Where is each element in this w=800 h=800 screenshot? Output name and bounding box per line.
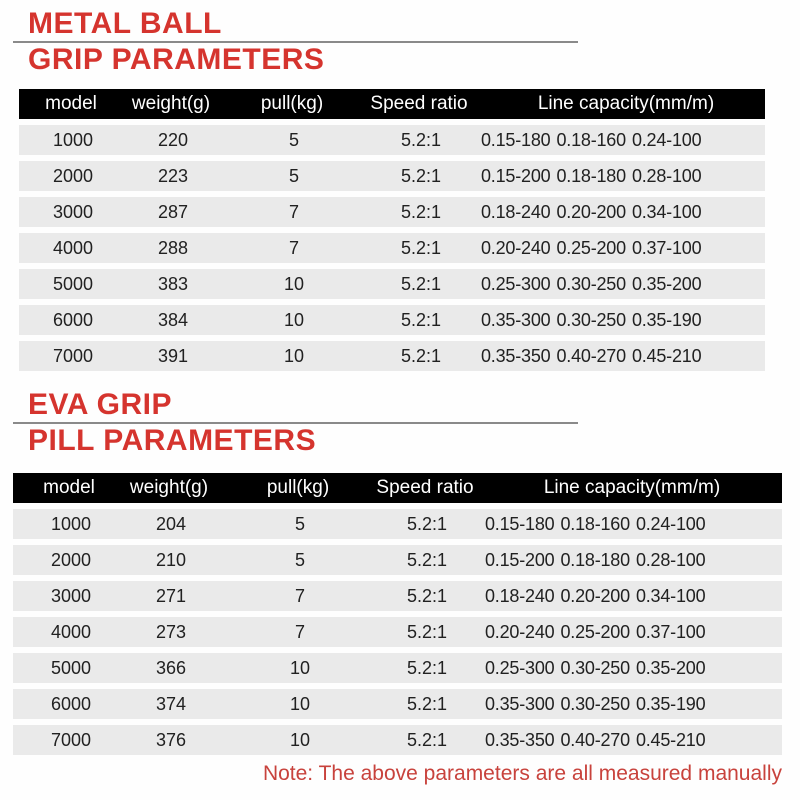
cell-weight: 220 (113, 125, 233, 155)
capacity-value: 0.35-190 (636, 689, 705, 719)
cell-pull: 7 (237, 197, 351, 227)
cell-pull: 7 (237, 233, 351, 263)
cell-model: 1000 (27, 125, 119, 155)
heading-line-1: METAL BALL (28, 6, 324, 42)
capacity-value: 0.34-100 (632, 197, 701, 227)
cell-model: 6000 (25, 689, 117, 719)
capacity-value: 0.15-180 (485, 509, 554, 539)
table-metal-ball-grip: model weight(g) pull(kg) Speed ratio Lin… (19, 89, 765, 371)
cell-pull: 10 (243, 689, 357, 719)
cell-weight: 204 (111, 509, 231, 539)
cell-speed-ratio: 5.2:1 (351, 197, 491, 227)
cell-weight: 384 (113, 305, 233, 335)
capacity-value: 0.20-200 (560, 581, 629, 611)
cell-weight: 273 (111, 617, 231, 647)
heading-line-2: PILL PARAMETERS (28, 423, 316, 459)
capacity-value: 0.35-300 (481, 305, 550, 335)
cell-capacity: 0.20-2400.25-2000.37-100 (485, 617, 773, 647)
capacity-value: 0.30-250 (560, 653, 629, 683)
cell-capacity: 0.15-1800.18-1600.24-100 (485, 509, 773, 539)
capacity-value: 0.35-200 (632, 269, 701, 299)
cell-weight: 223 (113, 161, 233, 191)
capacity-value: 0.18-180 (560, 545, 629, 575)
cell-speed-ratio: 5.2:1 (351, 161, 491, 191)
capacity-value: 0.40-270 (560, 725, 629, 755)
table-row: 200022355.2:10.15-2000.18-1800.28-100 (19, 161, 765, 191)
cell-pull: 10 (243, 725, 357, 755)
capacity-value: 0.15-180 (481, 125, 550, 155)
table-row: 5000366105.2:10.25-3000.30-2500.35-200 (13, 653, 782, 683)
cell-capacity: 0.35-3000.30-2500.35-190 (481, 305, 765, 335)
capacity-value: 0.24-100 (636, 509, 705, 539)
capacity-value: 0.40-270 (556, 341, 625, 371)
cell-capacity: 0.25-3000.30-2500.35-200 (485, 653, 773, 683)
table-body: 100022055.2:10.15-1800.18-1600.24-100200… (19, 125, 765, 371)
cell-pull: 5 (237, 125, 351, 155)
heading-eva-grip-pill: EVA GRIP PILL PARAMETERS (0, 387, 316, 459)
capacity-value: 0.37-100 (632, 233, 701, 263)
cell-model: 7000 (27, 341, 119, 371)
cell-model: 5000 (27, 269, 119, 299)
cell-capacity: 0.20-2400.25-2000.37-100 (481, 233, 765, 263)
cell-pull: 5 (243, 545, 357, 575)
table-header-row: model weight(g) pull(kg) Speed ratio Lin… (19, 89, 765, 119)
capacity-value: 0.25-300 (485, 653, 554, 683)
capacity-value: 0.35-300 (485, 689, 554, 719)
cell-pull: 10 (243, 653, 357, 683)
cell-model: 1000 (25, 509, 117, 539)
column-header-line-capacity: Line capacity(mm/m) (491, 473, 773, 503)
capacity-value: 0.20-200 (556, 197, 625, 227)
cell-speed-ratio: 5.2:1 (357, 653, 497, 683)
cell-capacity: 0.35-3000.30-2500.35-190 (485, 689, 773, 719)
column-header-weight: weight(g) (111, 89, 231, 119)
table-row: 100020455.2:10.15-1800.18-1600.24-100 (13, 509, 782, 539)
cell-speed-ratio: 5.2:1 (351, 269, 491, 299)
capacity-value: 0.37-100 (636, 617, 705, 647)
capacity-value: 0.35-350 (485, 725, 554, 755)
capacity-value: 0.20-240 (485, 617, 554, 647)
capacity-value: 0.24-100 (632, 125, 701, 155)
table-header-row: model weight(g) pull(kg) Speed ratio Lin… (13, 473, 782, 503)
cell-speed-ratio: 5.2:1 (357, 509, 497, 539)
cell-model: 4000 (27, 233, 119, 263)
cell-capacity: 0.18-2400.20-2000.34-100 (485, 581, 773, 611)
capacity-value: 0.18-160 (560, 509, 629, 539)
capacity-value: 0.35-350 (481, 341, 550, 371)
cell-model: 2000 (27, 161, 119, 191)
parameters-spec-sheet: METAL BALL GRIP PARAMETERS model weight(… (0, 0, 800, 800)
capacity-value: 0.45-210 (636, 725, 705, 755)
table-row: 6000384105.2:10.35-3000.30-2500.35-190 (19, 305, 765, 335)
cell-pull: 5 (243, 509, 357, 539)
capacity-value: 0.20-240 (481, 233, 550, 263)
column-header-speed-ratio: Speed ratio (349, 89, 489, 119)
cell-capacity: 0.15-1800.18-1600.24-100 (481, 125, 765, 155)
cell-speed-ratio: 5.2:1 (351, 125, 491, 155)
table-row: 200021055.2:10.15-2000.18-1800.28-100 (13, 545, 782, 575)
cell-weight: 271 (111, 581, 231, 611)
capacity-value: 0.30-250 (556, 305, 625, 335)
cell-speed-ratio: 5.2:1 (357, 725, 497, 755)
capacity-value: 0.28-100 (632, 161, 701, 191)
cell-capacity: 0.25-3000.30-2500.35-200 (481, 269, 765, 299)
table-row: 100022055.2:10.15-1800.18-1600.24-100 (19, 125, 765, 155)
table-row: 6000374105.2:10.35-3000.30-2500.35-190 (13, 689, 782, 719)
cell-pull: 10 (237, 341, 351, 371)
table-row: 7000376105.2:10.35-3500.40-2700.45-210 (13, 725, 782, 755)
heading-line-2: GRIP PARAMETERS (28, 42, 324, 78)
column-header-line-capacity: Line capacity(mm/m) (487, 89, 765, 119)
cell-model: 7000 (25, 725, 117, 755)
cell-weight: 288 (113, 233, 233, 263)
measurement-note: Note: The above parameters are all measu… (263, 762, 782, 786)
column-header-speed-ratio: Speed ratio (355, 473, 495, 503)
capacity-value: 0.34-100 (636, 581, 705, 611)
cell-model: 3000 (25, 581, 117, 611)
cell-weight: 383 (113, 269, 233, 299)
column-header-pull: pull(kg) (235, 89, 349, 119)
table-row: 7000391105.2:10.35-3500.40-2700.45-210 (19, 341, 765, 371)
table-eva-grip-pill: model weight(g) pull(kg) Speed ratio Lin… (13, 473, 782, 755)
column-header-weight: weight(g) (109, 473, 229, 503)
capacity-value: 0.35-200 (636, 653, 705, 683)
capacity-value: 0.18-160 (556, 125, 625, 155)
capacity-value: 0.28-100 (636, 545, 705, 575)
cell-speed-ratio: 5.2:1 (357, 617, 497, 647)
cell-pull: 7 (243, 581, 357, 611)
cell-model: 6000 (27, 305, 119, 335)
capacity-value: 0.45-210 (632, 341, 701, 371)
table-body: 100020455.2:10.15-1800.18-1600.24-100200… (13, 509, 782, 755)
capacity-value: 0.25-200 (556, 233, 625, 263)
cell-speed-ratio: 5.2:1 (351, 341, 491, 371)
capacity-value: 0.30-250 (556, 269, 625, 299)
table-row: 400028875.2:10.20-2400.25-2000.37-100 (19, 233, 765, 263)
cell-speed-ratio: 5.2:1 (357, 689, 497, 719)
capacity-value: 0.25-200 (560, 617, 629, 647)
cell-speed-ratio: 5.2:1 (357, 581, 497, 611)
heading-line-1: EVA GRIP (28, 387, 316, 423)
column-header-model: model (25, 89, 117, 119)
capacity-value: 0.18-240 (485, 581, 554, 611)
cell-weight: 287 (113, 197, 233, 227)
capacity-value: 0.15-200 (485, 545, 554, 575)
cell-speed-ratio: 5.2:1 (357, 545, 497, 575)
cell-capacity: 0.35-3500.40-2700.45-210 (481, 341, 765, 371)
capacity-value: 0.25-300 (481, 269, 550, 299)
capacity-value: 0.30-250 (560, 689, 629, 719)
cell-model: 2000 (25, 545, 117, 575)
capacity-value: 0.35-190 (632, 305, 701, 335)
cell-weight: 366 (111, 653, 231, 683)
cell-weight: 210 (111, 545, 231, 575)
column-header-pull: pull(kg) (241, 473, 355, 503)
cell-model: 3000 (27, 197, 119, 227)
cell-speed-ratio: 5.2:1 (351, 233, 491, 263)
cell-weight: 374 (111, 689, 231, 719)
capacity-value: 0.18-180 (556, 161, 625, 191)
column-header-model: model (23, 473, 115, 503)
table-row: 5000383105.2:10.25-3000.30-2500.35-200 (19, 269, 765, 299)
capacity-value: 0.15-200 (481, 161, 550, 191)
cell-model: 5000 (25, 653, 117, 683)
cell-weight: 376 (111, 725, 231, 755)
cell-pull: 7 (243, 617, 357, 647)
cell-capacity: 0.15-2000.18-1800.28-100 (481, 161, 765, 191)
cell-weight: 391 (113, 341, 233, 371)
heading-metal-ball-grip: METAL BALL GRIP PARAMETERS (0, 6, 324, 78)
table-row: 300028775.2:10.18-2400.20-2000.34-100 (19, 197, 765, 227)
cell-capacity: 0.15-2000.18-1800.28-100 (485, 545, 773, 575)
cell-pull: 10 (237, 305, 351, 335)
cell-pull: 5 (237, 161, 351, 191)
table-row: 400027375.2:10.20-2400.25-2000.37-100 (13, 617, 782, 647)
cell-pull: 10 (237, 269, 351, 299)
heading-divider-rule (13, 41, 578, 43)
heading-divider-rule (13, 422, 578, 424)
capacity-value: 0.18-240 (481, 197, 550, 227)
cell-model: 4000 (25, 617, 117, 647)
cell-speed-ratio: 5.2:1 (351, 305, 491, 335)
cell-capacity: 0.18-2400.20-2000.34-100 (481, 197, 765, 227)
cell-capacity: 0.35-3500.40-2700.45-210 (485, 725, 773, 755)
table-row: 300027175.2:10.18-2400.20-2000.34-100 (13, 581, 782, 611)
